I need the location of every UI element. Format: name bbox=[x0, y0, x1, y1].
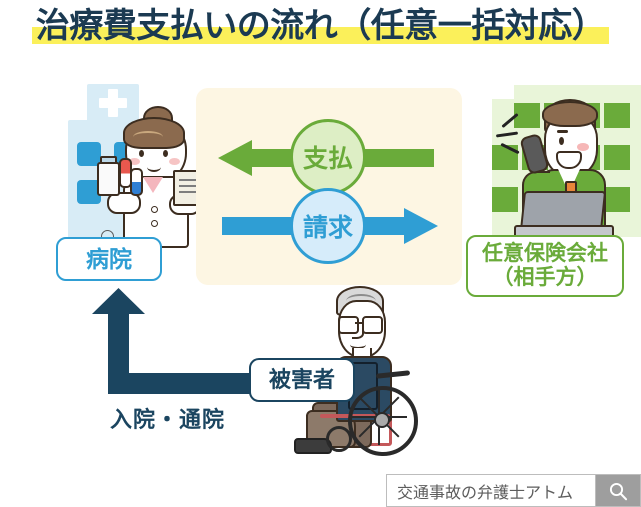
hospital-illustration bbox=[54, 84, 182, 244]
page-title-text: 治療費支払いの流れ（任意一括対応） bbox=[36, 7, 606, 45]
payment-badge: 支払 bbox=[290, 119, 366, 195]
page-title: 治療費支払いの流れ（任意一括対応） bbox=[32, 6, 610, 46]
claim-badge: 請求 bbox=[290, 188, 366, 264]
payment-arrow-head bbox=[218, 140, 252, 176]
node-label-hospital-text: 病院 bbox=[86, 246, 132, 272]
claim-badge-text: 請求 bbox=[303, 208, 353, 244]
nurse-eye-left bbox=[139, 150, 144, 157]
nurse-button bbox=[151, 220, 158, 227]
agent-eye bbox=[559, 137, 564, 145]
node-label-insurer[interactable]: 任意保険会社 （相手方） bbox=[466, 235, 624, 297]
nurse-button bbox=[151, 206, 158, 213]
clipboard-line bbox=[179, 179, 197, 181]
search-icon bbox=[608, 481, 628, 501]
node-label-hospital[interactable]: 病院 bbox=[56, 237, 162, 281]
admission-label: 入院・通院 bbox=[110, 402, 225, 434]
node-label-victim[interactable]: 被害者 bbox=[249, 358, 355, 402]
agent-eyebrow bbox=[557, 130, 568, 133]
node-label-insurer-line2: （相手方） bbox=[493, 266, 598, 290]
glasses-icon bbox=[336, 316, 384, 331]
insurance-company-illustration bbox=[492, 85, 641, 240]
nurse-hair bbox=[123, 117, 185, 149]
glasses-lens-right bbox=[362, 316, 383, 334]
agent-hair-front bbox=[542, 101, 598, 127]
payment-badge-text: 支払 bbox=[303, 139, 353, 175]
search-button[interactable] bbox=[595, 475, 640, 506]
office-building-gap bbox=[492, 85, 514, 99]
agent-cheek bbox=[577, 143, 589, 151]
nurse-cheek-right bbox=[169, 158, 180, 165]
clipboard-line bbox=[179, 191, 197, 193]
node-label-insurer-line1: 任意保険会社 bbox=[482, 242, 608, 266]
clipboard-line bbox=[179, 185, 197, 187]
search-bar[interactable]: 交通事故の弁護士アトム bbox=[386, 474, 641, 507]
medicine-bottle-icon bbox=[97, 162, 120, 196]
search-input[interactable]: 交通事故の弁護士アトム bbox=[387, 475, 595, 506]
nurse-eye-right bbox=[163, 150, 168, 157]
nurse-figure bbox=[99, 106, 204, 246]
nurse-mouth bbox=[147, 162, 161, 172]
wheelchair-caster-wheel bbox=[326, 426, 352, 452]
page-title-wrapper: 治療費支払いの流れ（任意一括対応） bbox=[0, 6, 641, 46]
claim-arrow-head bbox=[404, 208, 438, 244]
node-label-victim-text: 被害者 bbox=[269, 367, 335, 392]
wheelchair-hub bbox=[374, 412, 390, 428]
insurance-agent-figure bbox=[514, 99, 624, 239]
capsule-pill-icon bbox=[130, 168, 143, 196]
